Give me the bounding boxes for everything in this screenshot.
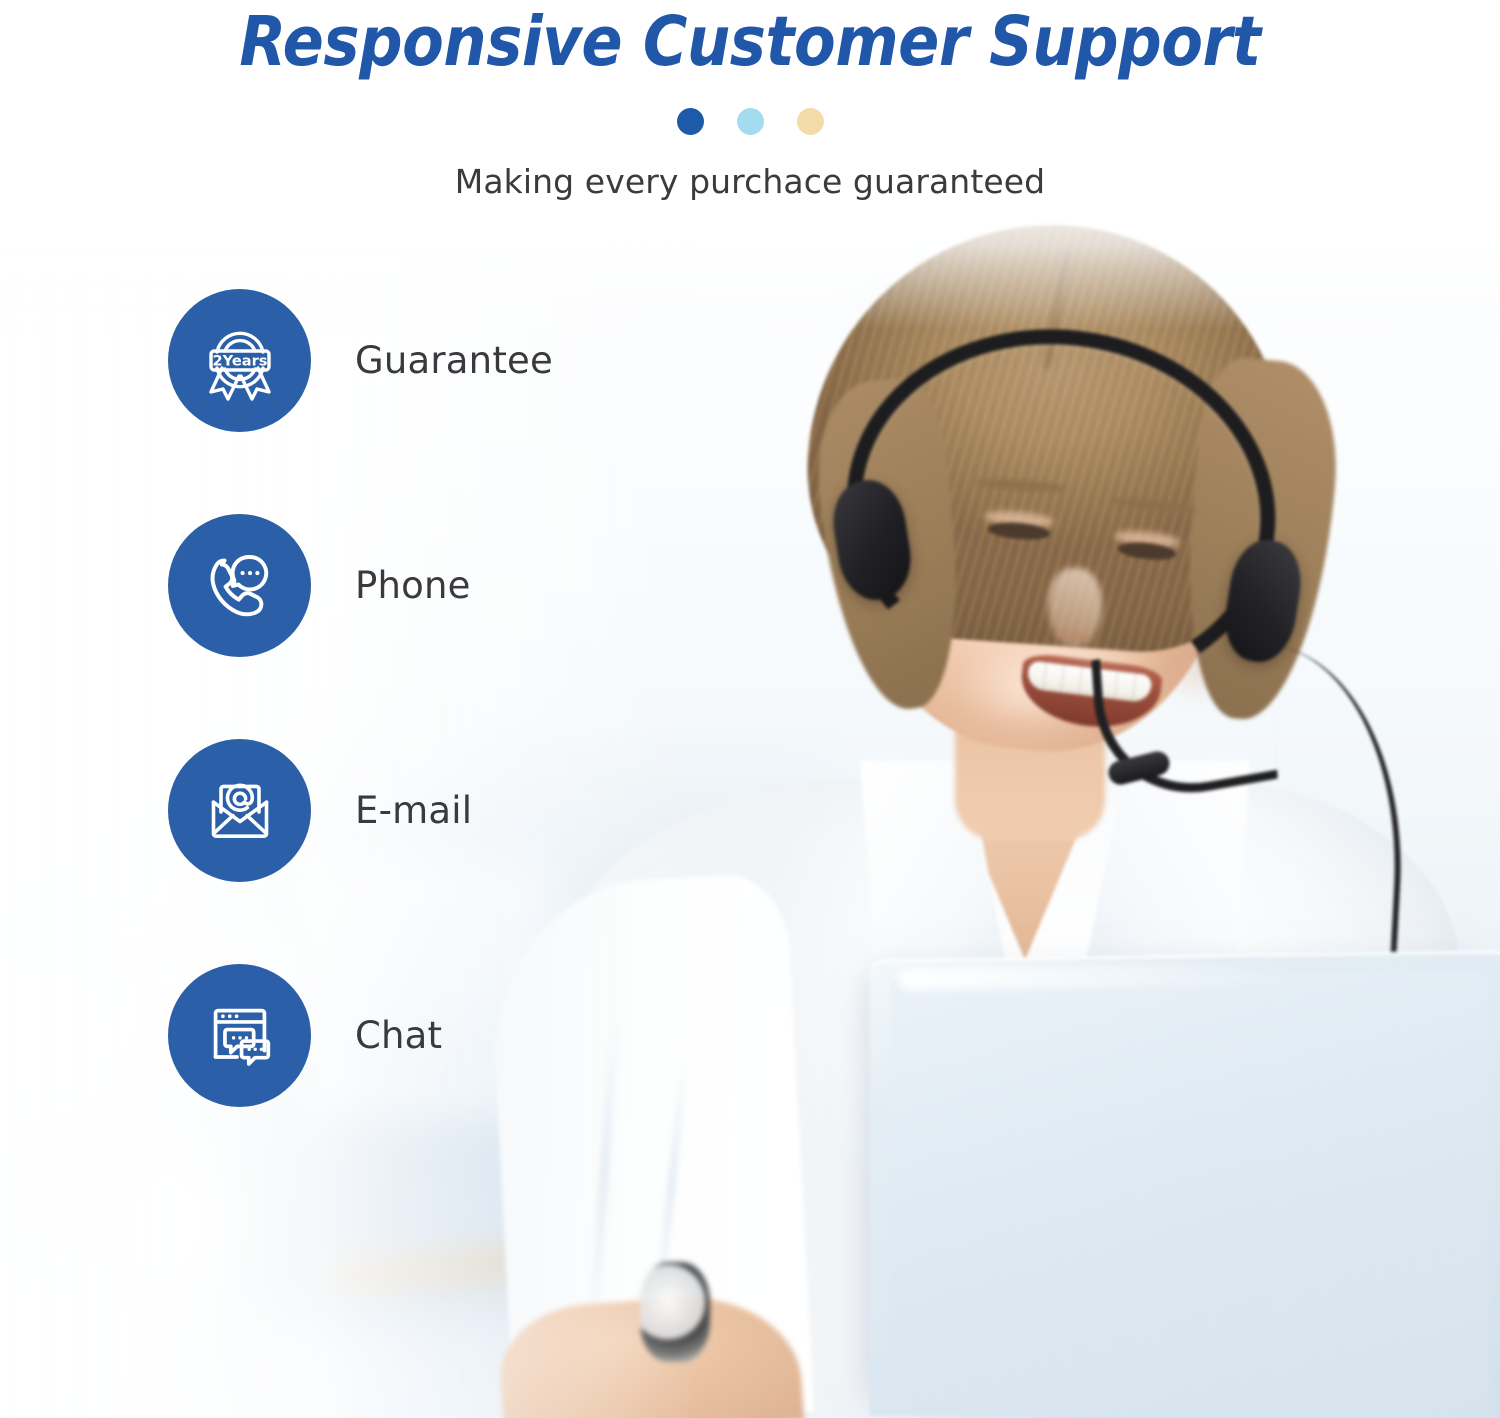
page-title: Responsive Customer Support bbox=[90, 2, 1410, 82]
dot-tan bbox=[797, 108, 824, 135]
support-banner: Responsive Customer Support Making every… bbox=[0, 0, 1500, 1418]
page-subtitle: Making every purchace guaranteed bbox=[0, 162, 1500, 201]
feature-label-guarantee: Guarantee bbox=[355, 339, 553, 382]
decorative-dot-row bbox=[0, 108, 1500, 135]
banner-content: Responsive Customer Support Making every… bbox=[0, 0, 1500, 1418]
feature-item-email[interactable]: E-mail bbox=[168, 738, 553, 883]
feature-label-email: E-mail bbox=[355, 789, 472, 832]
chat-icon-circle bbox=[168, 964, 311, 1107]
email-icon-circle bbox=[168, 739, 311, 882]
feature-label-phone: Phone bbox=[355, 564, 471, 607]
feature-item-chat[interactable]: Chat bbox=[168, 963, 553, 1108]
phone-icon-circle bbox=[168, 514, 311, 657]
feature-list: 2Years Guarantee bbox=[168, 288, 553, 1108]
dot-light-blue bbox=[737, 108, 764, 135]
feature-label-chat: Chat bbox=[355, 1014, 442, 1057]
guarantee-icon-circle: 2Years bbox=[168, 289, 311, 432]
guarantee-badge-icon: 2Years bbox=[197, 318, 283, 404]
phone-chat-icon bbox=[197, 543, 283, 629]
chat-window-icon bbox=[198, 994, 282, 1078]
feature-item-phone[interactable]: Phone bbox=[168, 513, 553, 658]
dot-dark-blue bbox=[677, 108, 704, 135]
email-envelope-icon bbox=[197, 768, 283, 854]
svg-text:2Years: 2Years bbox=[212, 352, 267, 369]
feature-item-guarantee[interactable]: 2Years Guarantee bbox=[168, 288, 553, 433]
